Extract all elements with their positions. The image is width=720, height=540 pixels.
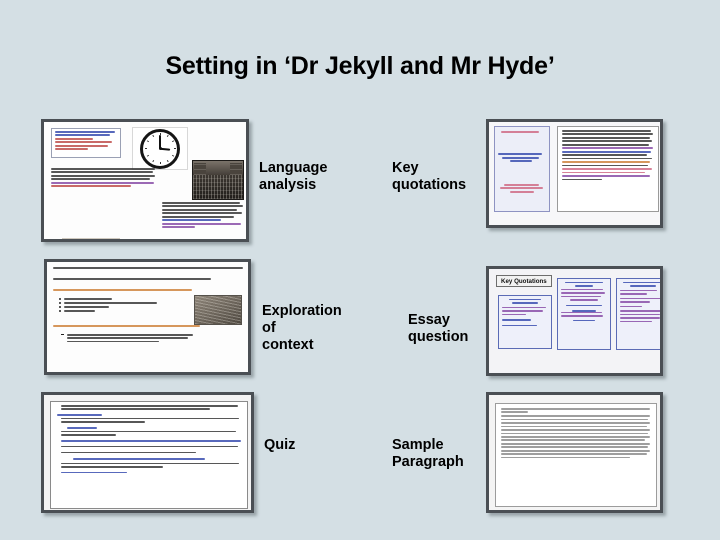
annotation-duality — [495, 182, 549, 196]
quiz-question-7 — [55, 463, 243, 470]
quotation-card-characters — [498, 295, 552, 349]
context-lead-in-line — [53, 278, 213, 281]
page-title: Setting in ‘Dr Jekyll and Mr Hyde’ — [0, 52, 720, 81]
language-analysis-slide-content — [44, 122, 246, 239]
label-quiz: Quiz — [264, 437, 374, 454]
victorian-street-engraving-image — [192, 160, 244, 200]
quiz-answer-3 — [73, 458, 205, 460]
bullet-great-exhibition — [59, 306, 179, 308]
bullet-darwinism — [59, 310, 179, 312]
quiz-question-6 — [55, 452, 243, 455]
key-quotations-thumbnail[interactable] — [486, 119, 663, 228]
quotation-card-dramatic-tension — [616, 278, 660, 350]
essay-question-heading: Key Quotations — [496, 275, 552, 287]
clock-face — [140, 129, 180, 169]
exploration-of-context-thumbnail[interactable] — [44, 259, 251, 375]
quiz-question-1 — [55, 405, 243, 412]
context-bullet-list — [59, 298, 179, 314]
extract-passage-panel — [557, 126, 659, 212]
quiz-question-5 — [55, 446, 243, 449]
quotation-textbox — [51, 128, 121, 158]
wall-clock-image — [132, 127, 188, 170]
exploration-of-context-slide-content — [47, 262, 248, 372]
label-exploration-of-context: Exploration of context — [262, 303, 387, 354]
annotation-prosperity — [495, 127, 549, 136]
annotation-welcoming — [495, 151, 549, 165]
misty-harbour-photo — [62, 238, 120, 239]
key-quotations-slide-content — [489, 122, 660, 225]
quiz-question-8 — [55, 472, 243, 475]
sample-paragraph-slide-content — [489, 395, 660, 510]
annotation-column — [494, 126, 550, 212]
essay-question-thumbnail[interactable]: Key Quotations — [486, 266, 663, 376]
label-language-analysis: Language analysis — [259, 160, 384, 194]
quiz-thumbnail[interactable] — [41, 392, 254, 513]
context-answer-text — [61, 334, 193, 344]
analysis-body-text — [51, 168, 156, 189]
language-analysis-thumbnail[interactable] — [41, 119, 249, 242]
victorian-scientists-engraving-image — [194, 295, 242, 325]
bullet-anaesthetics — [59, 298, 179, 300]
quiz-answer-1 — [57, 414, 102, 416]
quiz-question-4 — [55, 440, 243, 443]
quiz-question-panel — [50, 401, 248, 509]
quiz-answer-2 — [67, 427, 97, 429]
sample-paragraph-thumbnail[interactable] — [486, 392, 663, 513]
quotation-card-themes — [557, 278, 611, 350]
setting-caption-text — [162, 202, 244, 230]
essay-question-slide-content: Key Quotations — [489, 269, 660, 373]
context-question-2 — [53, 325, 201, 328]
context-question-1 — [53, 289, 193, 292]
quiz-slide-content — [44, 395, 251, 510]
quiz-question-2 — [55, 418, 243, 425]
answer-line-1 — [61, 334, 193, 336]
quiz-question-3 — [55, 431, 243, 438]
bullet-disease-spread — [59, 302, 179, 304]
sample-paragraph-panel — [495, 403, 657, 507]
context-quotation-line — [53, 267, 245, 270]
